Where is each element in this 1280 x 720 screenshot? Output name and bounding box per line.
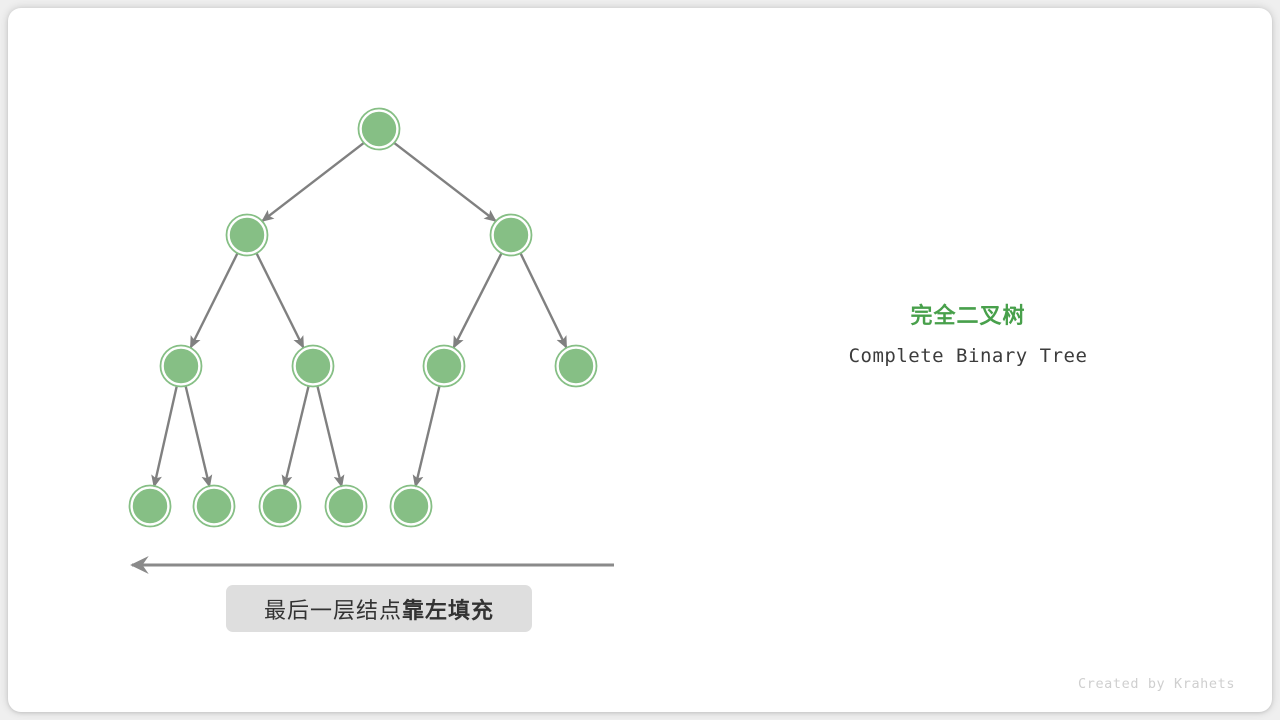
edge-n4-n8: [154, 386, 177, 487]
tree-node[interactable]: [260, 486, 301, 527]
edge-n2-n4: [191, 253, 238, 347]
tree-edges: [154, 143, 566, 487]
edge-n6-n12: [415, 386, 439, 487]
tree-node[interactable]: [161, 346, 202, 387]
figure-title-en: Complete Binary Tree: [768, 345, 1168, 367]
tree-node[interactable]: [194, 486, 235, 527]
tree-node[interactable]: [424, 346, 465, 387]
edge-n1-n3: [394, 143, 496, 221]
tree-node[interactable]: [227, 215, 268, 256]
tree-node[interactable]: [326, 486, 367, 527]
edge-n2-n5: [257, 253, 304, 347]
caption-text-normal: 最后一层结点: [264, 593, 402, 625]
edge-n3-n7: [521, 253, 567, 347]
tree-node[interactable]: [293, 346, 334, 387]
edge-n5-n11: [317, 386, 341, 487]
edge-n1-n2: [262, 143, 364, 221]
caption-badge: 最后一层结点靠左填充: [226, 585, 532, 632]
diagram-canvas: 完全二叉树 Complete Binary Tree 最后一层结点靠左填充 Cr…: [0, 0, 1280, 720]
tree-node[interactable]: [130, 486, 171, 527]
edge-n4-n9: [186, 386, 210, 487]
watermark-credit: Created by Krahets: [1078, 676, 1235, 692]
caption-text-bold: 靠左填充: [402, 593, 494, 625]
figure-title-cn: 完全二叉树: [768, 298, 1168, 330]
tree-node[interactable]: [391, 486, 432, 527]
tree-node[interactable]: [359, 109, 400, 150]
tree-node[interactable]: [491, 215, 532, 256]
edge-n3-n6: [454, 253, 502, 347]
edge-n5-n10: [284, 386, 308, 487]
tree-node[interactable]: [556, 346, 597, 387]
tree-nodes: [130, 109, 597, 527]
